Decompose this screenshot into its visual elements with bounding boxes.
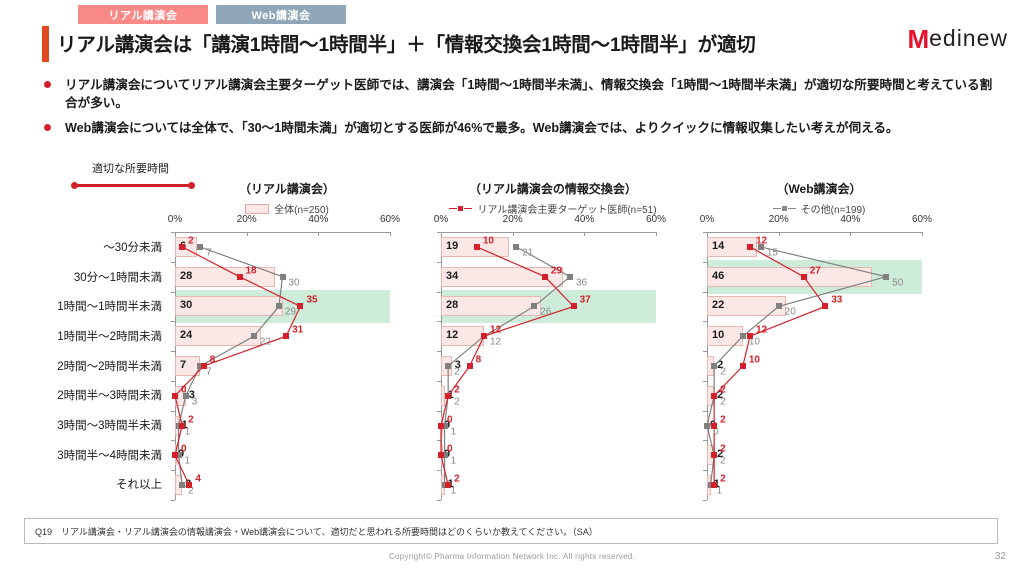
- data-point-label: 2: [454, 384, 460, 395]
- chart-real-seminar: （リアル講演会）全体(n=250)0%20%40%60%628302473102…: [168, 180, 444, 510]
- slide: リアル講演会 Web講演会 リアル講演会は「講演1時間〜1時間半」＋「情報交換会…: [0, 0, 1024, 576]
- data-point-label: 30: [289, 277, 300, 288]
- data-point-label: 0: [447, 444, 453, 455]
- page-number: 32: [995, 551, 1006, 562]
- axis-tick-label: 20%: [769, 214, 789, 225]
- category-tick: [437, 500, 441, 501]
- data-point-label: 26: [540, 307, 551, 318]
- category-tabs: リアル講演会 Web講演会: [78, 5, 346, 24]
- data-point: [438, 452, 444, 458]
- data-point: [711, 452, 717, 458]
- data-point-label: 12: [490, 325, 501, 336]
- data-point-label: 8: [476, 355, 482, 366]
- question-box: Q19 リアル講演会・リアル講演会の情報講演会・Web講演会について、適切だと思…: [24, 518, 998, 544]
- data-point: [740, 333, 746, 339]
- category-tick: [703, 500, 707, 501]
- data-point-label: 1: [717, 486, 723, 497]
- data-point-label: 31: [292, 325, 303, 336]
- plot-area: 0%20%40%60%14462210220211550201022021122…: [707, 232, 922, 500]
- category-label: 2時間半〜3時間未満: [16, 380, 162, 410]
- axis-tick-label: 0%: [168, 214, 182, 225]
- data-point: [445, 393, 451, 399]
- tab-real-seminar[interactable]: リアル講演会: [78, 5, 208, 24]
- value-axis-labels: 0%20%40%60%: [441, 214, 656, 228]
- data-point-label: 2: [720, 367, 726, 378]
- data-point: [776, 303, 782, 309]
- title-accent-bar: [42, 26, 49, 62]
- category-axis-labels: 〜30分未満30分〜1時間未満1時間〜1時間半未満1時間半〜2時間未満2時間〜2…: [16, 232, 162, 499]
- data-point-label: 12: [756, 325, 767, 336]
- legend-bar-swatch: [245, 204, 269, 214]
- data-point-label: 35: [306, 295, 317, 306]
- data-point-label: 7: [206, 247, 212, 258]
- data-point: [704, 423, 710, 429]
- category-label: 1時間半〜2時間未満: [16, 321, 162, 351]
- bullet-dot-icon: [44, 124, 51, 131]
- category-label: 1時間〜1時間半未満: [16, 291, 162, 321]
- data-point: [186, 482, 192, 488]
- data-point-label: 29: [551, 265, 562, 276]
- data-point-label: 4: [195, 474, 201, 485]
- data-point-label: 22: [260, 337, 271, 348]
- axis-tick: [656, 232, 657, 236]
- data-point-label: 36: [576, 277, 587, 288]
- axis-tick-label: 60%: [912, 214, 932, 225]
- axis-tick-label: 20%: [503, 214, 523, 225]
- data-point-label: 1: [185, 426, 191, 437]
- data-point: [531, 303, 537, 309]
- data-point: [747, 333, 753, 339]
- data-point: [467, 363, 473, 369]
- data-point: [711, 482, 717, 488]
- data-point-label: 10: [749, 355, 760, 366]
- summary-bullets: リアル講演会についてリアル講演会主要ターゲット医師では、講演会「1時間〜1時間半…: [44, 76, 994, 143]
- data-point-label: 15: [767, 247, 778, 258]
- data-point-label: 2: [454, 396, 460, 407]
- data-point-label: 2: [454, 474, 460, 485]
- medinew-logo: M edinew: [907, 24, 1008, 50]
- data-point: [822, 303, 828, 309]
- value-axis-labels: 0%20%40%60%: [175, 214, 390, 228]
- data-point-label: 2: [454, 367, 460, 378]
- plot-area: 0%20%40%60%19342812310012136261222111102…: [441, 232, 656, 500]
- bullet-text: リアル講演会についてリアル講演会主要ターゲット医師では、講演会「1時間〜1時間半…: [65, 76, 994, 113]
- data-point-label: 2: [720, 456, 726, 467]
- data-point-label: 12: [756, 235, 767, 246]
- data-point: [711, 393, 717, 399]
- legend-line-red: [449, 206, 472, 211]
- value-axis-labels: 0%20%40%60%: [707, 214, 922, 228]
- data-point-label: 10: [483, 235, 494, 246]
- data-point: [237, 274, 243, 280]
- logo-text: edinew: [929, 27, 1008, 50]
- data-point: [197, 244, 203, 250]
- data-point: [542, 274, 548, 280]
- chart-title: （リアル講演会）: [168, 180, 406, 197]
- data-point-label: 1: [451, 486, 457, 497]
- data-point-label: 50: [892, 277, 903, 288]
- data-point: [747, 244, 753, 250]
- data-point-label: 29: [285, 307, 296, 318]
- copyright-text: Copyright© Pharma Information Network In…: [0, 552, 1024, 561]
- line-series-overlay: [441, 232, 656, 500]
- data-point: [179, 423, 185, 429]
- data-point: [201, 363, 207, 369]
- chart-title: （リアル講演会の情報交換会）: [434, 180, 672, 197]
- bullet-text: Web講演会については全体で、「30〜1時間未満」が適切とする医師が46%で最多…: [65, 119, 899, 137]
- axis-tick: [922, 232, 923, 236]
- data-point: [571, 303, 577, 309]
- data-point-label: 21: [522, 247, 533, 258]
- data-point-label: 2: [188, 414, 194, 425]
- axis-tick-label: 0%: [434, 214, 448, 225]
- axis-tick-label: 20%: [237, 214, 257, 225]
- question-text: Q19 リアル講演会・リアル講演会の情報講演会・Web講演会について、適切だと思…: [35, 525, 598, 538]
- data-point: [172, 393, 178, 399]
- data-point-label: 12: [490, 337, 501, 348]
- legend-line-gray: [773, 206, 796, 211]
- data-point-label: 1: [451, 456, 457, 467]
- axis-tick-label: 40%: [840, 214, 860, 225]
- data-point-label: 33: [831, 295, 842, 306]
- data-point: [513, 244, 519, 250]
- data-point: [445, 482, 451, 488]
- data-point: [179, 482, 185, 488]
- axis-tick-label: 40%: [308, 214, 328, 225]
- data-point-label: 0: [181, 384, 187, 395]
- data-point: [251, 333, 257, 339]
- plot-area: 0%20%40%60%62830247310273029227311221835…: [175, 232, 390, 500]
- data-point: [740, 363, 746, 369]
- data-point: [438, 423, 444, 429]
- data-point-label: 3: [192, 396, 198, 407]
- data-point-label: 1: [185, 456, 191, 467]
- data-point-label: 37: [580, 295, 591, 306]
- category-label: 2時間〜2時間半未満: [16, 351, 162, 381]
- data-point: [474, 244, 480, 250]
- data-point-label: 7: [206, 367, 212, 378]
- tab-web-seminar[interactable]: Web講演会: [216, 5, 346, 24]
- data-point: [711, 423, 717, 429]
- data-point: [276, 303, 282, 309]
- data-point: [297, 303, 303, 309]
- data-point-label: 0: [181, 444, 187, 455]
- chart-title: （Web講演会）: [700, 180, 938, 197]
- data-point-label: 2: [720, 414, 726, 425]
- data-point: [280, 274, 286, 280]
- category-label: 〜30分未満: [16, 232, 162, 262]
- data-point-label: 0: [447, 414, 453, 425]
- data-point-label: 2: [720, 444, 726, 455]
- logo-mark-icon: M: [907, 26, 929, 52]
- category-label: 3時間〜3時間半未満: [16, 410, 162, 440]
- data-point-label: 2: [720, 384, 726, 395]
- bullet-item: Web講演会については全体で、「30〜1時間未満」が適切とする医師が46%で最多…: [44, 119, 994, 137]
- data-point-label: 18: [246, 265, 257, 276]
- data-point-label: 2: [720, 396, 726, 407]
- axis-tick: [390, 232, 391, 236]
- data-point: [883, 274, 889, 280]
- chart-real-seminar-networking: （リアル講演会の情報交換会）リアル講演会主要ターゲット医師(n=51)0%20%…: [434, 180, 710, 510]
- data-point-label: 8: [210, 355, 216, 366]
- data-point: [445, 363, 451, 369]
- bullet-dot-icon: [44, 81, 51, 88]
- data-point: [179, 244, 185, 250]
- data-point: [711, 363, 717, 369]
- bullet-item: リアル講演会についてリアル講演会主要ターゲット医師では、講演会「1時間〜1時間半…: [44, 76, 994, 113]
- data-point: [283, 333, 289, 339]
- category-label: それ以上: [16, 470, 162, 500]
- axis-tick-label: 60%: [646, 214, 666, 225]
- data-point-label: 2: [720, 474, 726, 485]
- data-point-label: 20: [785, 307, 796, 318]
- data-point: [801, 274, 807, 280]
- data-point: [481, 333, 487, 339]
- annotation-label: 適切な所要時間: [92, 160, 169, 176]
- axis-tick-label: 60%: [380, 214, 400, 225]
- data-point: [567, 274, 573, 280]
- category-label: 30分〜1時間未満: [16, 262, 162, 292]
- category-label: 3時間半〜4時間未満: [16, 440, 162, 470]
- axis-tick-label: 40%: [574, 214, 594, 225]
- chart-web-seminar: （Web講演会）その他(n=199)0%20%40%60%14462210220…: [700, 180, 976, 510]
- category-tick: [171, 500, 175, 501]
- data-point-label: 2: [188, 235, 194, 246]
- data-point: [172, 452, 178, 458]
- data-point-label: 27: [810, 265, 821, 276]
- page-title: リアル講演会は「講演1時間〜1時間半」＋「情報交換会1時間〜1時間半」が適切: [57, 28, 756, 57]
- axis-tick-label: 0%: [700, 214, 714, 225]
- data-point-label: 1: [451, 426, 457, 437]
